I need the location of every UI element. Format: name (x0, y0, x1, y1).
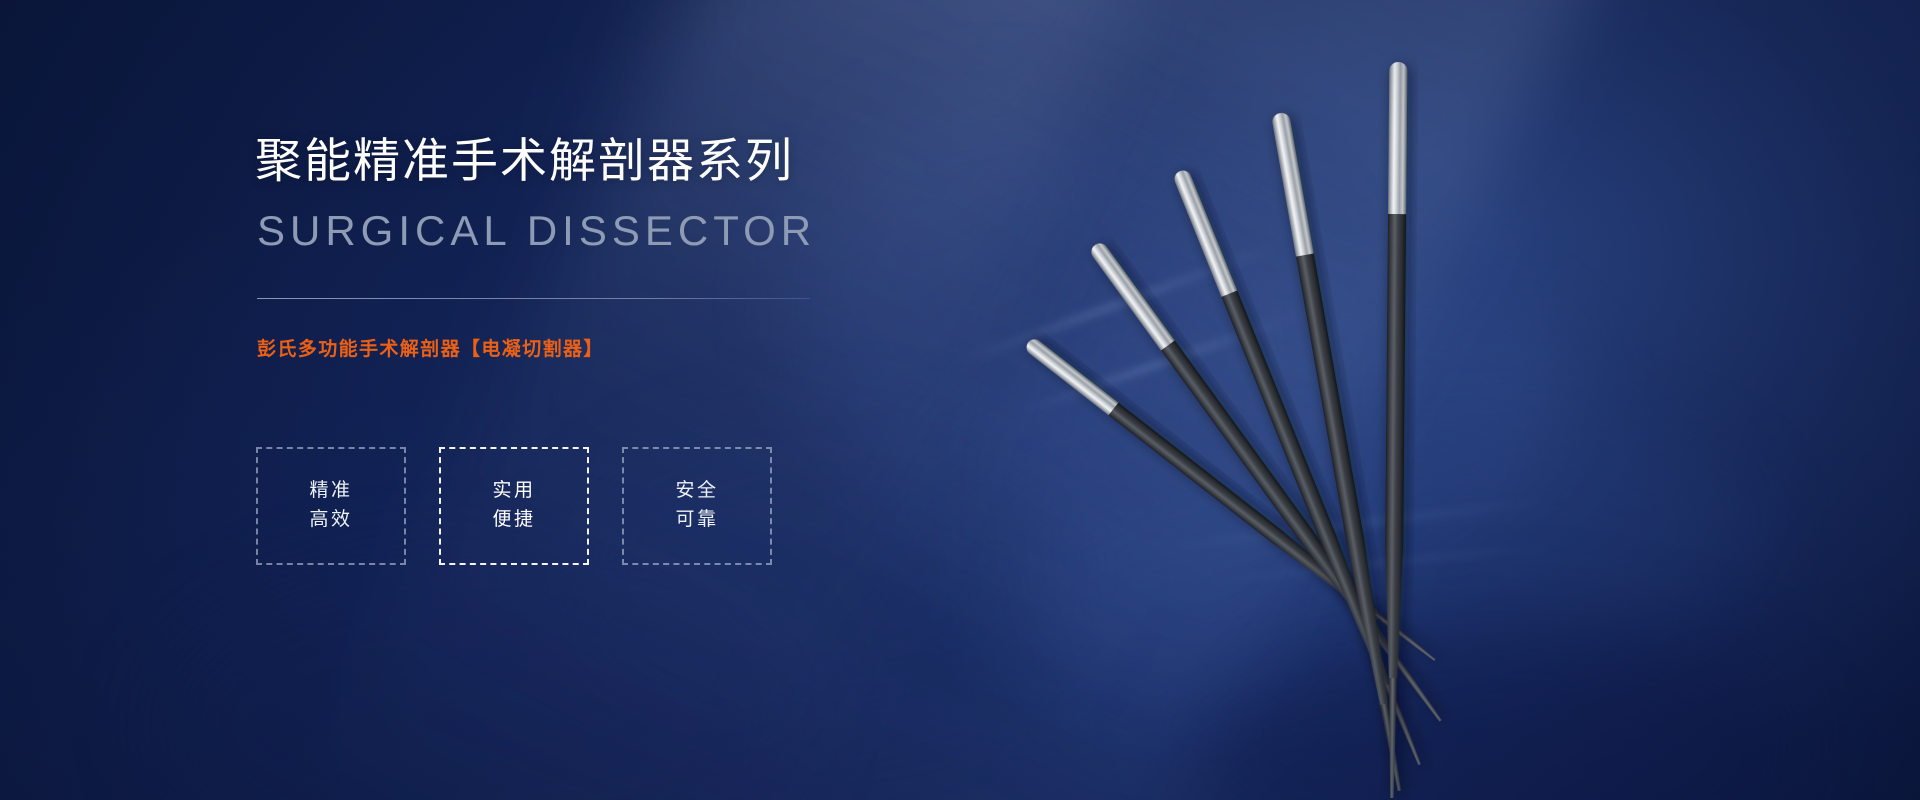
feature-box-precision[interactable]: 精准 高效 (256, 447, 406, 565)
title-divider (257, 298, 810, 299)
page-subtitle: SURGICAL DISSECTOR (257, 208, 816, 254)
feature-label-line2: 高效 (309, 506, 352, 535)
hero-banner: 聚能精准手术解剖器系列 SURGICAL DISSECTOR 彭氏多功能手术解剖… (0, 0, 1920, 800)
feature-box-practical[interactable]: 实用 便捷 (439, 447, 589, 565)
page-title: 聚能精准手术解剖器系列 (255, 134, 794, 189)
feature-label-line1: 实用 (492, 477, 535, 506)
banner-content: 聚能精准手术解剖器系列 SURGICAL DISSECTOR 彭氏多功能手术解剖… (255, 0, 955, 800)
feature-box-safety[interactable]: 安全 可靠 (622, 447, 772, 565)
feature-label-line2: 可靠 (675, 506, 718, 535)
feature-label-line1: 安全 (675, 477, 718, 506)
product-tagline: 彭氏多功能手术解剖器【电凝切割器】 (257, 334, 604, 361)
feature-box-group: 精准 高效 实用 便捷 安全 可靠 (256, 447, 772, 565)
feature-label-line1: 精准 (309, 477, 352, 506)
feature-label-line2: 便捷 (492, 506, 535, 535)
